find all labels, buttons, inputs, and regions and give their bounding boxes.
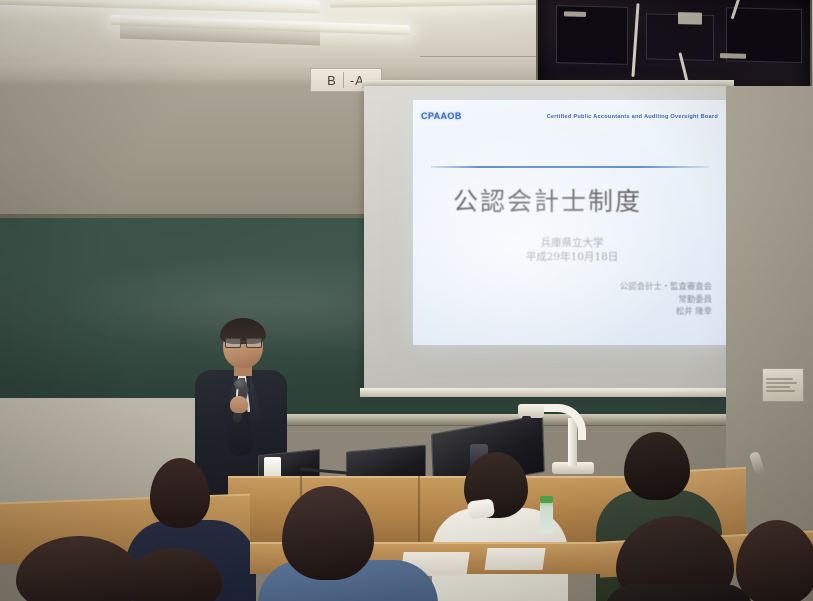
equipment-label <box>720 53 746 59</box>
equipment-label <box>678 12 702 25</box>
lecture-hall-photo: B -A CPAAOB Certified Public Accountants… <box>0 0 813 601</box>
slide-credit-line: 公認会計士・監査審査会 <box>522 280 712 293</box>
slide-subtitle-line: 平成29年10月18日 <box>477 250 667 264</box>
slide-credit-line: 常勤委員 <box>522 293 712 306</box>
slide-subtitle: 兵庫県立大学 平成29年10月18日 <box>477 236 667 264</box>
equipment-label <box>564 11 586 17</box>
ceiling-light <box>0 0 320 14</box>
slide-title: 公認会計士制度 <box>453 182 693 218</box>
screen-bottom-bar <box>360 388 732 397</box>
eyeglasses-icon <box>225 338 262 346</box>
handout-paper <box>484 548 545 570</box>
slide-credit-line: 松井 隆幸 <box>522 305 712 318</box>
room-sign-divider <box>343 72 344 88</box>
slide-header-text: Certified Public Accountants and Auditin… <box>547 114 718 120</box>
slide-subtitle-line: 兵庫県立大学 <box>477 236 667 250</box>
document-camera-lens <box>522 416 531 422</box>
room-sign-left: B <box>327 73 337 88</box>
student-head <box>624 432 690 500</box>
speaker-hand <box>230 396 248 413</box>
water-bottle-cap <box>540 496 553 503</box>
ceiling-light <box>330 0 570 8</box>
student-shoulders <box>604 584 754 601</box>
cpaaob-logo: CPAAOB <box>421 111 462 121</box>
slide-divider-rule <box>431 166 709 168</box>
cpaaob-logo-text: CPAAOB <box>421 111 462 121</box>
projected-slide: CPAAOB Certified Public Accountants and … <box>413 100 726 345</box>
wall-notice-plaque <box>762 368 804 402</box>
cable <box>631 3 639 77</box>
water-bottle <box>540 500 553 534</box>
slide-credits: 公認会計士・監査審査会 常勤委員 松井 隆幸 <box>522 280 712 318</box>
lectern-panel-seam <box>418 476 420 542</box>
